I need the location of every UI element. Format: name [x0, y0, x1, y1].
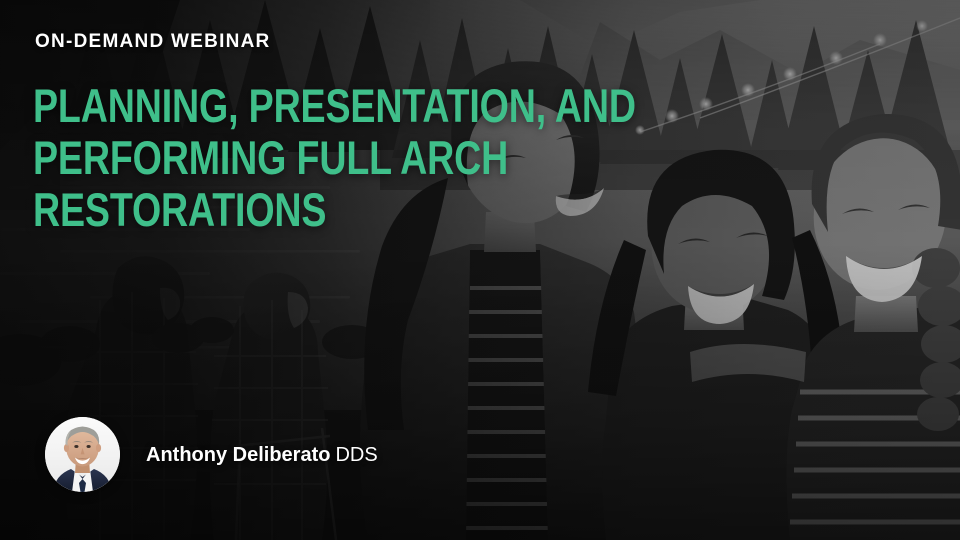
slide-content: ON-DEMAND WEBINAR PLANNING, PRESENTATION… — [0, 0, 960, 540]
headline-line-3: RESTORATIONS — [33, 184, 481, 236]
eyebrow-label: ON-DEMAND WEBINAR — [35, 32, 271, 51]
headline-line-2: PERFORMING FULL ARCH — [33, 132, 481, 184]
presenter-credentials: DDS — [335, 444, 377, 466]
headline-line-1: PLANNING, PRESENTATION, AND — [33, 80, 481, 132]
headline: PLANNING, PRESENTATION, AND PERFORMING F… — [33, 80, 593, 236]
presenter-avatar — [45, 417, 120, 492]
presenter-full-name: Anthony Deliberato — [146, 444, 330, 466]
presenter-name: Anthony DeliberatoDDS — [146, 445, 378, 465]
presenter-block: Anthony DeliberatoDDS — [45, 417, 378, 492]
webinar-title-slide: ON-DEMAND WEBINAR PLANNING, PRESENTATION… — [0, 0, 960, 540]
